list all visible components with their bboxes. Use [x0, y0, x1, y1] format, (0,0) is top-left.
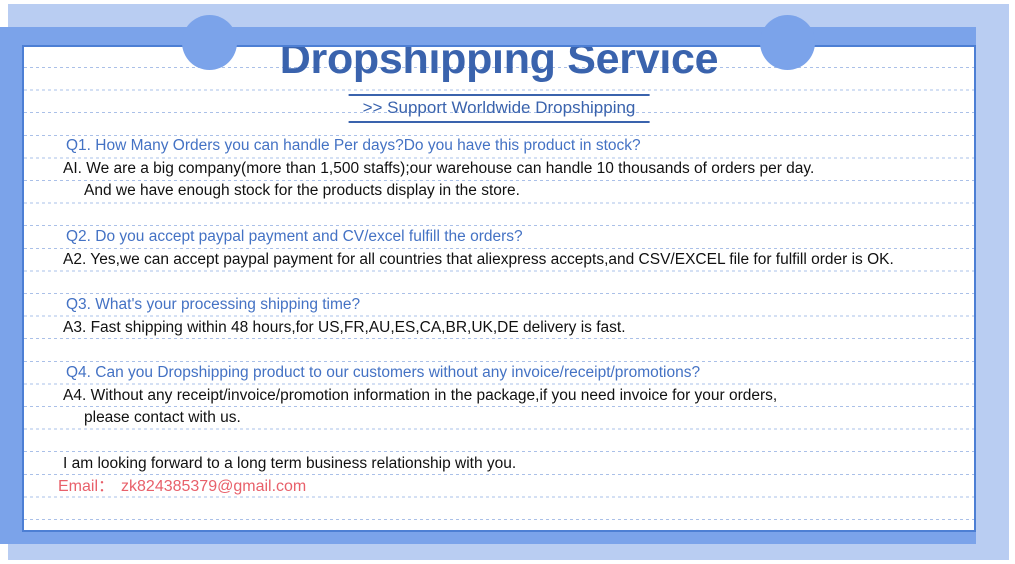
subtitle-text: >> Support Worldwide Dropshipping: [363, 98, 636, 118]
faq-answer-2-line-1: A2. Yes,we can accept paypal payment for…: [58, 249, 954, 272]
faq-question-4: Q4. Can you Dropshipping product to our …: [58, 362, 954, 385]
faq-question-1: Q1. How Many Orders you can handle Per d…: [58, 135, 954, 158]
decorative-circle-right: [760, 15, 815, 70]
email-label: Email：: [58, 478, 114, 495]
subtitle-banner: >> Support Worldwide Dropshipping: [349, 94, 650, 123]
faq-answer-3-line-1: A3. Fast shipping within 48 hours,for US…: [58, 317, 954, 340]
dropshipping-service-banner: Dropshipping Service >> Support Worldwid…: [0, 0, 1015, 564]
email-address[interactable]: zk824385379@gmail.com: [121, 478, 306, 495]
faq-item-1: Q1. How Many Orders you can handle Per d…: [58, 135, 954, 203]
email-row: Email：zk824385379@gmail.com: [58, 476, 306, 499]
faq-question-2: Q2. Do you accept paypal payment and CV/…: [58, 226, 954, 249]
content-card: Dropshipping Service >> Support Worldwid…: [22, 45, 976, 532]
page-title: Dropshipping Service: [24, 45, 974, 84]
faq-item-4: Q4. Can you Dropshipping product to our …: [58, 362, 954, 430]
faq-answer-1-line-2: And we have enough stock for the product…: [58, 180, 954, 203]
faq-item-3: Q3. What's your processing shipping time…: [58, 294, 954, 339]
decorative-circle-left: [182, 15, 237, 70]
faq-question-3: Q3. What's your processing shipping time…: [58, 294, 954, 317]
closing-statement: I am looking forward to a long term busi…: [63, 453, 516, 476]
card-content: Dropshipping Service >> Support Worldwid…: [24, 47, 974, 530]
faq-item-2: Q2. Do you accept paypal payment and CV/…: [58, 226, 954, 271]
faq-answer-4-line-1: A4. Without any receipt/invoice/promotio…: [58, 385, 954, 408]
faq-answer-1-line-1: AI. We are a big company(more than 1,500…: [58, 158, 954, 181]
faq-answer-4-line-2: please contact with us.: [58, 407, 954, 430]
